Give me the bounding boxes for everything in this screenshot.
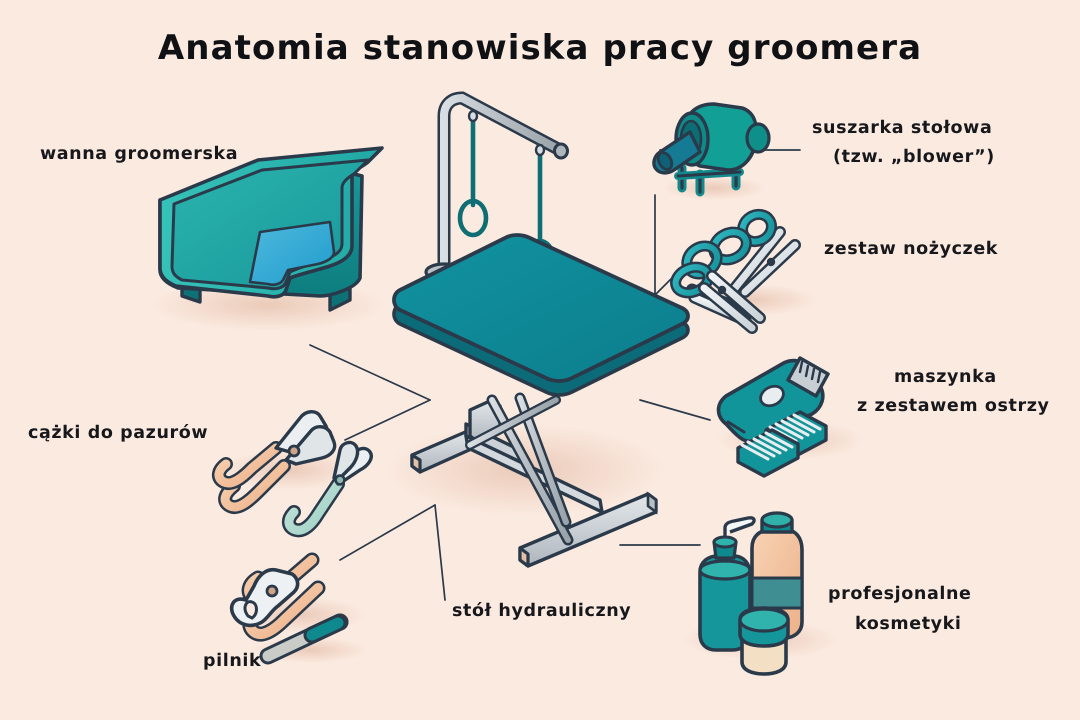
blower-illustration — [654, 104, 769, 200]
label-zestaw-nozyczek: zestaw nożyczek — [824, 238, 998, 261]
cosmetic-jar — [740, 608, 788, 674]
label-cazki-do-pazurow: cążki do pazurów — [28, 422, 208, 445]
label-wanna-groomerska: wanna groomerska — [40, 143, 238, 166]
bathtub-illustration — [150, 148, 386, 331]
label-suszarka-stolowa-line2: (tzw. „blower”) — [833, 146, 995, 169]
scissors-illustration — [672, 209, 818, 328]
clipper-illustration — [716, 358, 864, 476]
label-maszynka-line2: z zestawem ostrzy — [857, 395, 1050, 418]
nail-clippers-illustration — [219, 412, 371, 531]
label-profesjonalne-kosmetyki-line2: kosmetyki — [855, 613, 962, 636]
label-maszynka-line1: maszynka — [894, 366, 997, 389]
cosmetics-illustration — [682, 513, 838, 674]
label-profesjonalne-kosmetyki-line1: profesjonalne — [828, 583, 972, 606]
infographic-canvas: Anatomia stanowiska pracy groomera — [0, 0, 1080, 720]
label-pilnik: pilnik — [203, 650, 261, 673]
label-suszarka-stolowa-line1: suszarka stołowa — [812, 117, 992, 140]
grooming-table-illustration — [385, 98, 688, 566]
label-stol-hydrauliczny: stół hydrauliczny — [452, 600, 631, 623]
